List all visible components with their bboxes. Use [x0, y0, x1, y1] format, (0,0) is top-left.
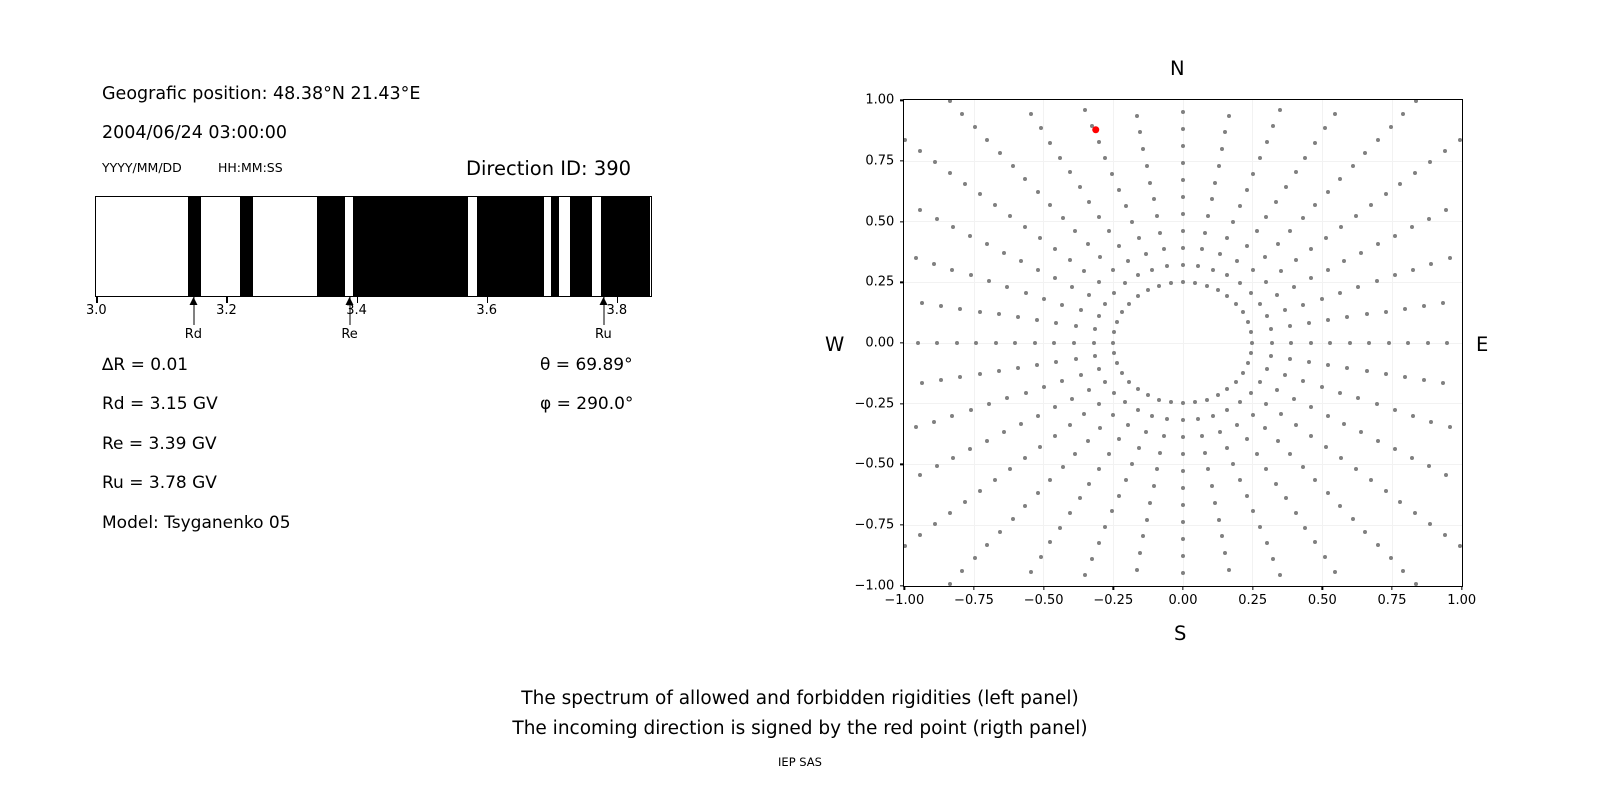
direction-dot	[1301, 303, 1305, 307]
direction-dot	[1103, 525, 1107, 529]
direction-dot	[1107, 229, 1111, 233]
direction-dot	[1249, 330, 1253, 334]
direction-dot	[1083, 108, 1087, 112]
direction-dot	[1103, 156, 1107, 160]
direction-dot	[1150, 268, 1154, 272]
direction-dot	[1205, 284, 1209, 288]
polar-y-tick-label: 0.25	[842, 275, 894, 290]
direction-dot	[1225, 446, 1229, 450]
direction-dot	[1234, 380, 1238, 384]
direction-dot	[1225, 273, 1229, 277]
direction-dot	[1011, 517, 1015, 521]
direction-dot	[1326, 318, 1330, 322]
polar-x-tick-label: −0.25	[1093, 593, 1133, 608]
direction-dot	[1369, 203, 1373, 207]
direction-dot	[1181, 486, 1185, 490]
footer-text: IEP SAS	[0, 755, 1600, 769]
direction-dot	[1165, 417, 1169, 421]
gridline-horizontal	[904, 464, 1462, 465]
direction-dot	[1413, 171, 1417, 175]
direction-dot	[1356, 285, 1360, 289]
direction-dot	[1231, 462, 1235, 466]
direction-dot	[993, 203, 997, 207]
direction-dot	[1265, 367, 1269, 371]
direction-dot	[1271, 124, 1275, 128]
direction-dot	[1008, 467, 1012, 471]
direction-dot	[1216, 288, 1220, 292]
direction-dot	[1445, 341, 1449, 345]
direction-dot	[1098, 255, 1102, 259]
direction-dot	[1158, 451, 1162, 455]
direction-dot	[1070, 397, 1074, 401]
direction-dot	[1384, 489, 1388, 493]
direction-dot	[969, 273, 973, 277]
direction-dot	[1410, 225, 1414, 229]
polar-x-tick-label: 0.00	[1169, 593, 1198, 608]
direction-dot	[1135, 568, 1139, 572]
polar-x-tick-label: 0.25	[1238, 593, 1267, 608]
direction-dot	[1135, 114, 1139, 118]
direction-dot	[1181, 178, 1185, 182]
time-format-hint: HH:MM:SS	[218, 160, 283, 175]
direction-dot	[1097, 140, 1101, 144]
direction-dot	[1016, 315, 1020, 319]
direction-dot	[1058, 526, 1062, 530]
param-ru: Ru = 3.78 GV	[102, 473, 217, 493]
rigidity-marker-label: Re	[341, 327, 357, 342]
direction-dot	[1169, 400, 1173, 404]
direction-dot	[1079, 373, 1083, 377]
direction-dot	[948, 171, 952, 175]
direction-dot	[1269, 354, 1273, 358]
direction-dot	[960, 569, 964, 573]
spectrum-x-axis: 3.03.23.43.63.8RdReRu	[95, 297, 652, 307]
direction-dot	[1354, 467, 1358, 471]
polar-y-tick-label: −1.00	[842, 578, 894, 593]
direction-dot	[1200, 247, 1204, 251]
direction-dot	[1042, 297, 1046, 301]
direction-dot	[1111, 413, 1115, 417]
direction-dot	[903, 138, 907, 142]
spectrum-bar	[95, 196, 652, 297]
direction-dot	[1231, 220, 1235, 224]
direction-dot	[933, 160, 937, 164]
direction-dot	[1448, 425, 1452, 429]
direction-dot	[1249, 391, 1253, 395]
direction-dot	[1258, 156, 1262, 160]
direction-dot	[1326, 491, 1330, 495]
direction-dot	[1124, 204, 1128, 208]
direction-dot	[955, 341, 959, 345]
direction-dot	[1403, 375, 1407, 379]
direction-dot	[1324, 236, 1328, 240]
direction-dot	[1148, 501, 1152, 505]
direction-dot	[1238, 400, 1242, 404]
direction-dot	[1019, 259, 1023, 263]
polar-x-tick-label: −1.00	[884, 593, 924, 608]
polar-y-tick	[900, 342, 904, 343]
direction-dot	[1042, 385, 1046, 389]
direction-dot	[1223, 130, 1227, 134]
direction-dot	[1303, 156, 1307, 160]
direction-dot	[1428, 522, 1432, 526]
direction-dot	[1061, 465, 1065, 469]
direction-dot	[1097, 215, 1101, 219]
direction-dot	[1292, 397, 1296, 401]
direction-dot	[1238, 204, 1242, 208]
direction-dot	[1002, 430, 1006, 434]
polar-x-tick	[1252, 586, 1253, 590]
direction-dot	[1146, 288, 1150, 292]
direction-dot	[1246, 320, 1250, 324]
direction-dot	[1339, 456, 1343, 460]
direction-dot	[1036, 491, 1040, 495]
direction-dot	[1053, 405, 1057, 409]
direction-dot	[1112, 351, 1116, 355]
direction-dot	[1309, 276, 1313, 280]
direction-dot	[1039, 555, 1043, 559]
direction-dot	[1024, 291, 1028, 295]
direction-dot	[1263, 255, 1267, 259]
compass-label-north: N	[1170, 57, 1185, 80]
forbidden-band	[240, 197, 252, 296]
x-axis-tick-label: 3.0	[86, 303, 107, 318]
direction-dot	[1217, 164, 1221, 168]
polar-y-tick-label: 0.50	[842, 214, 894, 229]
direction-dot	[1275, 388, 1279, 392]
forbidden-band	[551, 197, 559, 296]
arrow-up-icon	[600, 297, 608, 305]
direction-dot	[1181, 229, 1185, 233]
direction-dot	[1152, 484, 1156, 488]
direction-dot	[998, 530, 1002, 534]
direction-dot	[1196, 417, 1200, 421]
direction-dot	[1441, 301, 1445, 305]
direction-dot	[1181, 554, 1185, 558]
direction-dot	[1324, 445, 1328, 449]
polar-x-tick	[973, 586, 974, 590]
direction-dot	[1251, 172, 1255, 176]
direction-dot	[1097, 280, 1101, 284]
direction-dot	[1090, 557, 1094, 561]
direction-dot	[1241, 371, 1245, 375]
direction-dot	[920, 301, 924, 305]
direction-dot	[1181, 144, 1185, 148]
direction-dot	[1309, 434, 1313, 438]
direction-dot	[1093, 327, 1097, 331]
direction-dot	[935, 464, 939, 468]
direction-dot	[1136, 408, 1140, 412]
direction-dot	[978, 489, 982, 493]
polar-y-tick-label: 1.00	[842, 93, 894, 108]
direction-dot	[1238, 478, 1242, 482]
polar-y-tick-label: −0.50	[842, 457, 894, 472]
direction-dot	[1238, 281, 1242, 285]
direction-dot	[1270, 341, 1274, 345]
direction-dot	[1338, 504, 1342, 508]
direction-dot	[1269, 327, 1273, 331]
direction-dot	[985, 242, 989, 246]
direction-dot	[998, 151, 1002, 155]
direction-dot	[1264, 467, 1268, 471]
direction-dot	[1443, 533, 1447, 537]
rigidity-spectrum-panel: Geografic position: 48.38°N 21.43°E 2004…	[0, 0, 800, 660]
direction-dot	[918, 208, 922, 212]
direction-dot	[1087, 293, 1091, 297]
geographic-position-text: Geografic position: 48.38°N 21.43°E	[102, 84, 420, 104]
direction-dot	[948, 99, 952, 103]
direction-dot	[1264, 215, 1268, 219]
polar-y-tick-label: −0.75	[842, 518, 894, 533]
direction-dot	[1146, 393, 1150, 397]
direction-dot	[1087, 200, 1091, 204]
direction-dot	[914, 425, 918, 429]
direction-dot	[987, 279, 991, 283]
direction-dot	[1427, 217, 1431, 221]
direction-dot	[918, 533, 922, 537]
direction-dot	[1144, 252, 1148, 256]
direction-dot	[1115, 320, 1119, 324]
compass-label-east: E	[1476, 333, 1488, 356]
direction-dot	[1376, 138, 1380, 142]
param-delta-r: ∆R = 0.01	[102, 355, 188, 375]
forbidden-band	[601, 197, 650, 296]
direction-dot	[920, 381, 924, 385]
direction-dot	[1112, 330, 1116, 334]
direction-dot	[1288, 229, 1292, 233]
direction-dot	[1258, 302, 1262, 306]
forbidden-band	[570, 197, 592, 296]
direction-dot	[1309, 405, 1313, 409]
direction-dot	[1393, 447, 1397, 451]
direction-dot	[1013, 341, 1017, 345]
param-theta: θ = 69.89°	[540, 355, 633, 375]
direction-dot	[1103, 380, 1107, 384]
direction-dot	[950, 268, 954, 272]
polar-y-tick	[900, 282, 904, 283]
direction-dot	[1411, 414, 1415, 418]
direction-dot	[974, 341, 978, 345]
direction-dot	[1181, 452, 1185, 456]
direction-dot	[1401, 569, 1405, 573]
direction-dot	[935, 217, 939, 221]
direction-dot	[1086, 439, 1090, 443]
polar-y-tick-label: 0.75	[842, 153, 894, 168]
direction-dot	[1348, 341, 1352, 345]
direction-dot	[1054, 321, 1058, 325]
direction-dot	[978, 372, 982, 376]
direction-dot	[1193, 400, 1197, 404]
direction-dot	[1245, 494, 1249, 498]
direction-dot	[1005, 285, 1009, 289]
direction-dot	[1169, 281, 1173, 285]
direction-dot	[978, 192, 982, 196]
direction-dot	[1393, 408, 1397, 412]
polar-y-tick	[900, 524, 904, 525]
direction-dot	[932, 420, 936, 424]
direction-dot	[1307, 360, 1311, 364]
direction-dot	[1320, 385, 1324, 389]
direction-dot	[1111, 268, 1115, 272]
direction-dot	[1155, 467, 1159, 471]
direction-dot	[1294, 170, 1298, 174]
direction-dot	[1225, 387, 1229, 391]
direction-dot	[1061, 216, 1065, 220]
gridline-horizontal	[904, 221, 1462, 222]
direction-dot	[1289, 341, 1293, 345]
direction-dot	[1200, 434, 1204, 438]
direction-dot	[1097, 314, 1101, 318]
direction-dot	[1283, 308, 1287, 312]
direction-dot	[1068, 258, 1072, 262]
gridline-horizontal	[904, 525, 1462, 526]
direction-dot	[1123, 400, 1127, 404]
direction-dot	[1218, 252, 1222, 256]
rigidity-spectrum-chart	[95, 196, 652, 297]
direction-dot	[1338, 291, 1342, 295]
direction-scatter-plot	[903, 99, 1463, 587]
polar-y-tick-label: −0.25	[842, 396, 894, 411]
direction-dot	[1210, 197, 1214, 201]
direction-dot	[1444, 473, 1448, 477]
direction-dot	[1097, 467, 1101, 471]
direction-dot	[1011, 164, 1015, 168]
direction-dot	[994, 341, 998, 345]
direction-dot	[916, 341, 920, 345]
direction-dot	[1313, 478, 1317, 482]
polar-x-tick	[1461, 586, 1462, 590]
direction-dot	[1036, 268, 1040, 272]
param-model: Model: Tsyganenko 05	[102, 513, 291, 533]
direction-map-panel: N E W S −1.00−0.75−0.50−0.250.000.250.50…	[800, 0, 1600, 660]
direction-dot	[1326, 268, 1330, 272]
direction-dot	[1271, 557, 1275, 561]
direction-dot	[997, 369, 1001, 373]
direction-dot	[1410, 456, 1414, 460]
direction-dot	[1023, 504, 1027, 508]
direction-dot	[1393, 273, 1397, 277]
direction-dot	[1124, 478, 1128, 482]
polar-x-tick-label: 0.75	[1378, 593, 1407, 608]
direction-dot	[1288, 357, 1292, 361]
direction-dot	[903, 544, 907, 548]
direction-dot	[973, 125, 977, 129]
direction-dot	[1098, 426, 1102, 430]
direction-dot	[1213, 501, 1217, 505]
direction-dot	[1429, 262, 1433, 266]
direction-dot	[1019, 422, 1023, 426]
polar-x-tick-label: 1.00	[1447, 593, 1476, 608]
direction-dot	[1427, 464, 1431, 468]
direction-dot	[1301, 465, 1305, 469]
polar-y-tick	[900, 160, 904, 161]
direction-dot	[1216, 393, 1220, 397]
direction-dot	[1060, 303, 1064, 307]
direction-dot	[1398, 182, 1402, 186]
direction-dot	[1110, 172, 1114, 176]
compass-label-south: S	[1174, 622, 1186, 645]
x-axis-tick-label: 3.6	[476, 303, 497, 318]
direction-dot	[1087, 388, 1091, 392]
direction-dot	[1356, 396, 1360, 400]
direction-dot	[1458, 138, 1462, 142]
direction-dot	[1038, 236, 1042, 240]
direction-dot	[1181, 401, 1185, 405]
direction-dot	[1052, 341, 1056, 345]
direction-dot	[1048, 540, 1052, 544]
direction-dot	[1251, 509, 1255, 513]
direction-dot	[1036, 414, 1040, 418]
direction-dot	[969, 408, 973, 412]
direction-dot	[1136, 273, 1140, 277]
direction-dot	[1227, 114, 1231, 118]
direction-dot	[1255, 229, 1259, 233]
direction-dot	[1048, 203, 1052, 207]
direction-dot	[1115, 361, 1119, 365]
direction-dot	[1406, 341, 1410, 345]
direction-dot	[1068, 423, 1072, 427]
direction-dot	[1053, 434, 1057, 438]
direction-dot	[1283, 373, 1287, 377]
direction-dot	[1138, 130, 1142, 134]
direction-dot	[1376, 439, 1380, 443]
direction-dot	[1276, 242, 1280, 246]
direction-dot	[1326, 190, 1330, 194]
direction-dot	[1016, 366, 1020, 370]
direction-dot	[1303, 526, 1307, 530]
direction-dot	[993, 478, 997, 482]
direction-dot	[1301, 379, 1305, 383]
direction-dot	[1265, 541, 1269, 545]
direction-dot	[1097, 541, 1101, 545]
direction-dot	[1443, 149, 1447, 153]
direction-dot	[963, 182, 967, 186]
polar-x-tick-label: −0.75	[954, 593, 994, 608]
direction-dot	[1103, 302, 1107, 306]
direction-dot	[1351, 517, 1355, 521]
arrow-up-icon	[346, 297, 354, 305]
polar-x-tick	[1322, 586, 1323, 590]
direction-dot	[968, 447, 972, 451]
direction-dot	[1181, 418, 1185, 422]
direction-dot	[1376, 543, 1380, 547]
direction-dot	[1138, 551, 1142, 555]
caption-line-1: The spectrum of allowed and forbidden ri…	[0, 684, 1600, 714]
direction-dot	[985, 439, 989, 443]
direction-dot	[1309, 341, 1313, 345]
direction-dot	[985, 543, 989, 547]
direction-dot	[1111, 341, 1115, 345]
direction-dot	[1333, 570, 1337, 574]
param-re: Re = 3.39 GV	[102, 434, 217, 454]
direction-dot	[1246, 361, 1250, 365]
polar-y-tick	[900, 221, 904, 222]
direction-dot	[1249, 351, 1253, 355]
direction-dot	[1249, 291, 1253, 295]
direction-dot	[1157, 284, 1161, 288]
incoming-direction-marker	[1092, 126, 1100, 134]
direction-dot	[1245, 244, 1249, 248]
direction-dot	[1292, 285, 1296, 289]
caption-line-2: The incoming direction is signed by the …	[0, 714, 1600, 744]
direction-dot	[1029, 570, 1033, 574]
direction-dot	[1426, 341, 1430, 345]
direction-dot	[1203, 451, 1207, 455]
direction-dot	[1387, 341, 1391, 345]
direction-dot	[1083, 573, 1087, 577]
direction-dot	[1203, 231, 1207, 235]
direction-dot	[1342, 259, 1346, 263]
